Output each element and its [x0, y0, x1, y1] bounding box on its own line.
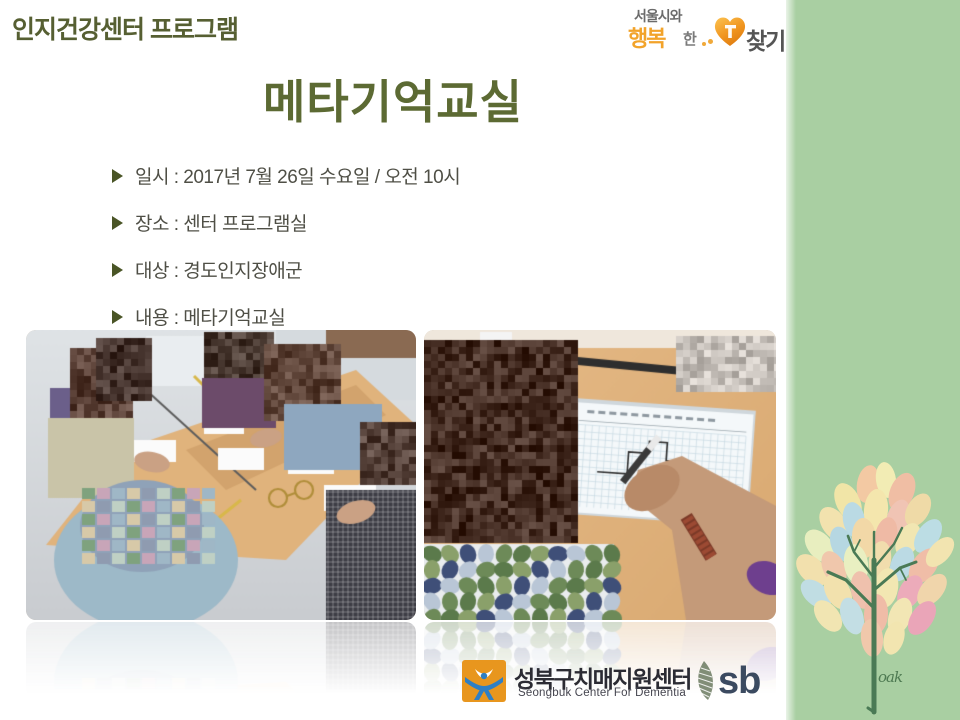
triangle-bullet-icon — [112, 169, 123, 183]
photo-group-activity — [26, 330, 416, 620]
photo-writing-closeup — [424, 330, 776, 620]
tree-signature: oak — [878, 668, 902, 686]
page-title: 인지건강센터 프로그램 — [12, 10, 238, 46]
heart-icon — [712, 14, 748, 48]
list-item-text: 내용 : 메타기억교실 — [135, 303, 285, 330]
presentation-slide: oak 인지건강센터 프로그램 서울시와 행복 한 찾기 메타기억교실 — [0, 0, 960, 720]
triangle-bullet-icon — [112, 310, 123, 324]
brand-han-word: 한 — [683, 28, 696, 49]
photo-reflection — [26, 622, 416, 700]
logo-figure-icon — [462, 660, 506, 702]
list-item-text: 장소 : 센터 프로그램실 — [135, 209, 307, 236]
list-item-text: 대상 : 경도인지장애군 — [135, 256, 302, 283]
triangle-bullet-icon — [112, 263, 123, 277]
list-item: 대상 : 경도인지장애군 — [112, 246, 752, 293]
detail-list: 일시 : 2017년 7월 26일 수요일 / 오전 10시 장소 : 센터 프… — [112, 152, 752, 340]
seoul-happy-logo: 서울시와 행복 한 찾기 — [628, 6, 784, 54]
logo-english-name: Seongbuk Center For Dementia — [518, 687, 686, 699]
brand-happy-word: 행복 — [628, 21, 664, 53]
logo-abbreviation: sb — [718, 658, 760, 704]
brand-find-word: 찾기 — [746, 22, 784, 56]
list-item-text: 일시 : 2017년 7월 26일 수요일 / 오전 10시 — [135, 162, 460, 189]
list-item: 일시 : 2017년 7월 26일 수요일 / 오전 10시 — [112, 152, 752, 199]
triangle-bullet-icon — [112, 216, 123, 230]
slide-main-title: 메타기억교실 — [0, 66, 786, 132]
list-item: 장소 : 센터 프로그램실 — [112, 199, 752, 246]
tree-illustration: oak — [790, 440, 960, 720]
leaf-icon — [688, 658, 720, 704]
seongbuk-dementia-center-logo: 성북구치매지원센터 Seongbuk Center For Dementia s… — [462, 658, 772, 708]
